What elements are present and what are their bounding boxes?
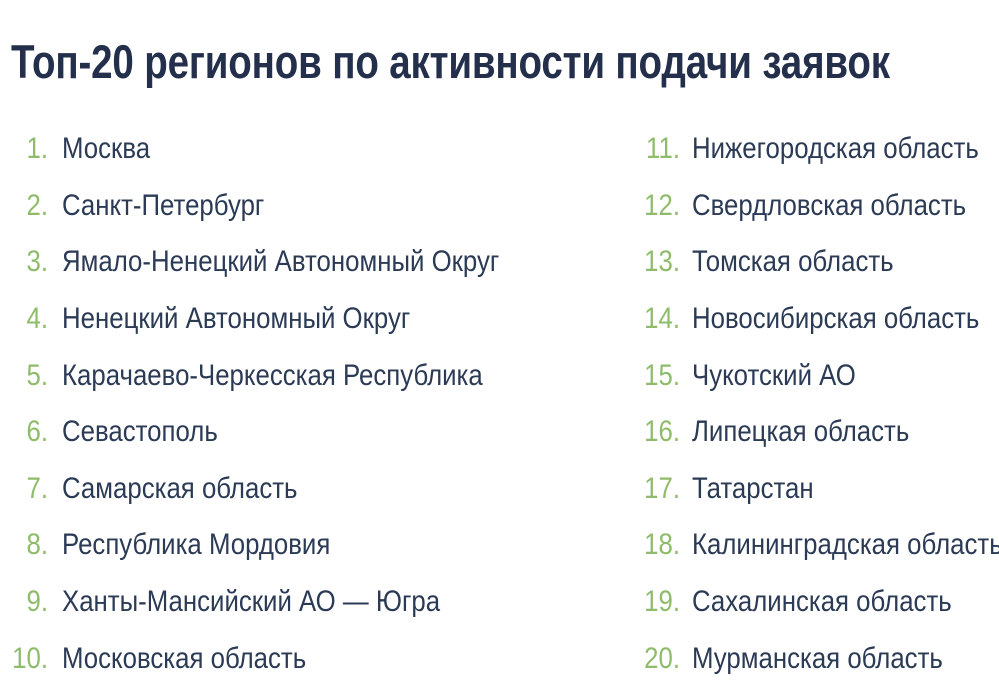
list-item-rank: 16. [635, 417, 680, 447]
list-item-label: Ненецкий Автономный Округ [62, 303, 410, 335]
list-item: 8. Республика Мордовия [0, 517, 500, 574]
list-item: 19. Сахалинская область [628, 574, 999, 631]
ranking-list-right: 11. Нижегородская область 12. Свердловск… [628, 121, 999, 687]
list-item: 16. Липецкая область [628, 404, 999, 461]
list-item-label: Карачаево-Черкесская Республика [62, 360, 483, 392]
list-item-label: Республика Мордовия [62, 529, 330, 561]
list-item-rank: 7. [7, 474, 48, 504]
list-item: 4. Ненецкий Автономный Округ [0, 291, 500, 348]
list-item-rank: 1. [7, 134, 48, 164]
list-item-rank: 3. [7, 247, 48, 277]
list-item-label: Татарстан [692, 473, 814, 505]
list-item-rank: 9. [7, 587, 48, 617]
list-item-label: Новосибирская область [692, 303, 979, 335]
list-item-rank: 19. [635, 587, 680, 617]
list-item-rank: 2. [7, 191, 48, 221]
list-item-rank: 12. [635, 191, 680, 221]
list-item-rank: 4. [7, 304, 48, 334]
list-item: 18. Калининградская область [628, 517, 999, 574]
list-item: 20. Мурманская область [628, 630, 999, 687]
list-item-rank: 14. [635, 304, 680, 334]
list-item: 3. Ямало-Ненецкий Автономный Округ [0, 234, 500, 291]
list-item-label: Москва [62, 133, 150, 165]
list-item-label: Санкт-Петербург [62, 190, 264, 222]
list-item: 2. Санкт-Петербург [0, 178, 500, 235]
list-item: 1. Москва [0, 121, 500, 178]
list-item: 13. Томская область [628, 234, 999, 291]
list-item-label: Свердловская область [692, 190, 966, 222]
list-item-rank: 20. [635, 644, 680, 674]
list-item-rank: 11. [635, 134, 680, 164]
list-item-label: Севастополь [62, 416, 218, 448]
list-item: 9. Ханты-Мансийский АО — Югра [0, 574, 500, 631]
list-item-rank: 15. [635, 361, 680, 391]
list-item-label: Сахалинская область [692, 586, 952, 618]
list-item-rank: 17. [635, 474, 680, 504]
list-item: 14. Новосибирская область [628, 291, 999, 348]
list-item: 10. Московская область [0, 630, 500, 687]
list-item: 5. Карачаево-Черкесская Республика [0, 347, 500, 404]
list-item-rank: 6. [7, 417, 48, 447]
list-item-label: Томская область [692, 246, 894, 278]
list-item-label: Чукотский АО [692, 360, 856, 392]
list-item-label: Нижегородская область [692, 133, 979, 165]
list-item: 7. Самарская область [0, 461, 500, 518]
list-item: 17. Татарстан [628, 461, 999, 518]
list-item: 12. Свердловская область [628, 178, 999, 235]
list-item-label: Липецкая область [692, 416, 909, 448]
page-title: Топ-20 регионов по активности подачи зая… [11, 33, 798, 91]
list-item-rank: 8. [7, 530, 48, 560]
list-item-rank: 13. [635, 247, 680, 277]
list-item-rank: 18. [635, 530, 680, 560]
list-item-label: Самарская область [62, 473, 297, 505]
list-item: 6. Севастополь [0, 404, 500, 461]
list-item: 15. Чукотский АО [628, 347, 999, 404]
list-item-label: Калининградская область [692, 529, 999, 561]
slide-root: Топ-20 регионов по активности подачи зая… [0, 0, 999, 684]
list-item-label: Ямало-Ненецкий Автономный Округ [62, 246, 499, 278]
list-item-rank: 10. [7, 644, 48, 674]
list-item-rank: 5. [7, 361, 48, 391]
list-item-label: Московская область [62, 643, 306, 675]
list-item-label: Мурманская область [692, 643, 943, 675]
list-item-label: Ханты-Мансийский АО — Югра [62, 586, 440, 618]
list-item: 11. Нижегородская область [628, 121, 999, 178]
ranking-list-left: 1. Москва 2. Санкт-Петербург 3. Ямало-Не… [0, 121, 500, 687]
